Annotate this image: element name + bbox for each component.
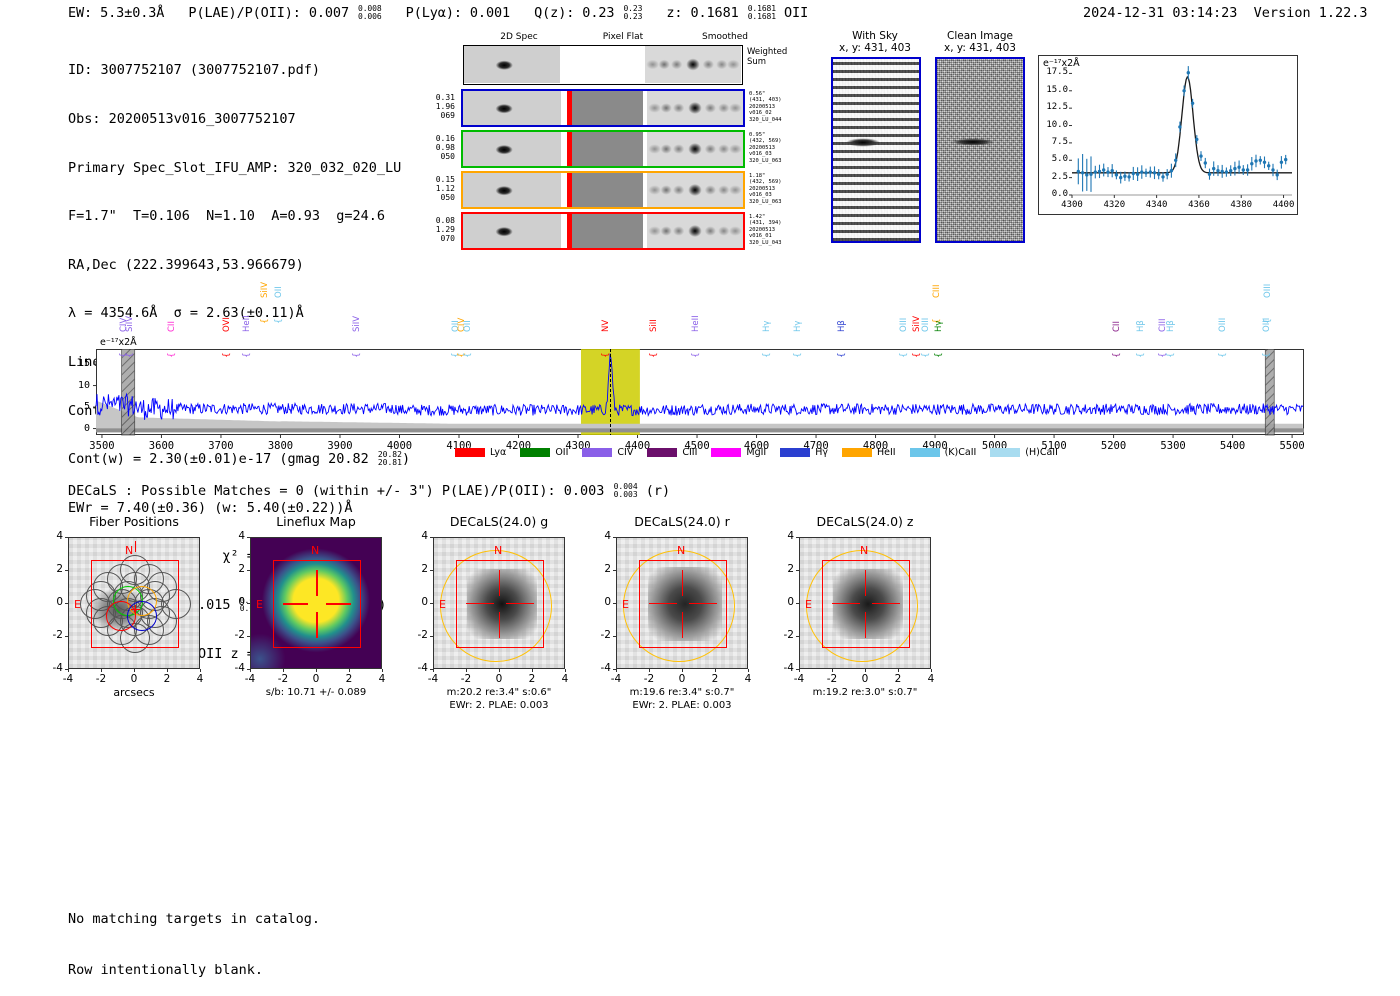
fiber-smoothed-3	[647, 214, 743, 248]
line-id-label: NV	[601, 320, 611, 332]
line-id-label: OIII	[1218, 318, 1228, 332]
line-id-label: HeII	[691, 315, 701, 332]
panel-title-1: Lineflux Map	[212, 514, 420, 529]
spectrum-xtick: 4000	[375, 440, 423, 452]
panel-xtick-mark	[931, 669, 932, 672]
panel-ytick-mark	[613, 603, 616, 604]
legend-entry: (H)CaII	[990, 447, 1058, 458]
panel-caption1: m:19.6 re:3.4" s:0.7"	[580, 687, 784, 699]
fiber-2dspec-1	[463, 132, 561, 166]
panel-xtick: -4	[781, 673, 817, 685]
panel-xtick-mark	[799, 669, 800, 672]
line-id-brace: {	[934, 352, 944, 358]
spectrum-ytick: 0	[64, 423, 90, 434]
with-sky-coords: x, y: 431, 403	[839, 42, 911, 54]
zoom-ytick: 7.5	[1038, 137, 1068, 147]
panel-xtick: -4	[50, 673, 86, 685]
panel-image-4[interactable]: NE	[799, 537, 931, 669]
panel-xtick-mark	[101, 669, 102, 672]
zoom-ytick: 2.5	[1038, 172, 1068, 182]
panel-xtick-mark	[68, 669, 69, 672]
zoom-ytick: 15.0	[1038, 85, 1068, 95]
fiber-stats-3: 0.081.29070	[425, 216, 455, 244]
line-id-brace: {	[1166, 352, 1176, 358]
twod-title-pixelflat: Pixel Flat	[573, 32, 673, 42]
fiber-stats-0: 0.311.96069	[425, 93, 455, 121]
timestamp-version: 2024-12-31 03:14:23 Version 1.22.3	[1083, 5, 1367, 21]
fiber-meta-3: 1.42"(431, 394)20200513v016_01320_LU_043	[749, 214, 781, 246]
panel-title-3: DECaLS(24.0) r	[578, 514, 786, 529]
panel-ytick-mark	[796, 570, 799, 571]
fiber-pixelflat-1	[572, 132, 643, 166]
line-id-brace: {	[242, 352, 252, 358]
full-spectrum-svg	[92, 349, 1304, 441]
line-id-brace: {	[1263, 318, 1273, 324]
qz-errors: 0.230.23	[623, 5, 642, 21]
panel-ytick: 4	[590, 530, 611, 542]
panel-xtick: -2	[265, 673, 301, 685]
fiber-row-0[interactable]	[461, 89, 745, 127]
panel-image-0[interactable]: NE	[68, 537, 200, 669]
line-id-brace: {	[837, 352, 847, 358]
panel-ytick-mark	[796, 537, 799, 538]
footer-note: No matching targets in catalog. Row inte…	[68, 877, 320, 996]
panel-ytick: 2	[42, 563, 63, 575]
line-id-label: SiII	[649, 319, 659, 332]
panel-ytick: 0	[590, 596, 611, 608]
spectrum-ytick: 15	[64, 358, 90, 369]
panel-xtick: 2	[331, 673, 367, 685]
panel-ytick-mark	[430, 537, 433, 538]
panel-ytick: 0	[773, 596, 794, 608]
weighted-sum-row	[463, 45, 743, 85]
panel-xtick-mark	[250, 669, 251, 672]
fiber-meta-2: 1.18"(432, 569)20200513v016_03320_LU_063	[749, 173, 781, 205]
legend-entry: (K)CaII	[910, 447, 977, 458]
panel-ytick: 4	[407, 530, 428, 542]
panel-ytick: -2	[224, 629, 245, 641]
panel-caption2: EWr: 2. PLAE: 0.003	[397, 700, 601, 712]
panel-xtick: 0	[664, 673, 700, 685]
spectrum-ytick: 5	[64, 401, 90, 412]
panel-xtick: -2	[814, 673, 850, 685]
legend-swatch	[910, 448, 940, 457]
spectrum-xtick: 3900	[316, 440, 364, 452]
clean-image-title: Clean Image x, y: 431, 403	[925, 30, 1035, 54]
plae-lower: 0.006	[358, 13, 382, 21]
panel-xtick-mark	[167, 669, 168, 672]
with-sky-title: With Sky x, y: 431, 403	[820, 30, 930, 54]
panel-xtick-mark	[898, 669, 899, 672]
panel-title-4: DECaLS(24.0) z	[761, 514, 969, 529]
panel-ytick-mark	[613, 636, 616, 637]
clean-image-coords: x, y: 431, 403	[944, 42, 1016, 54]
zoom-chart-svg	[1038, 55, 1298, 215]
line-id-brace: {	[649, 352, 659, 358]
panel-ytick-mark	[430, 603, 433, 604]
panel-xtick-mark	[649, 669, 650, 672]
panel-ytick: 4	[224, 530, 245, 542]
emission-line-zoom-chart: e⁻¹⁷x2Å 0.02.55.07.510.012.515.017.5 430…	[1038, 55, 1298, 215]
panel-xtick-mark	[832, 669, 833, 672]
fiber-stats-1: 0.160.98050	[425, 134, 455, 162]
panel-xtick: 0	[847, 673, 883, 685]
fiber-row-1[interactable]	[461, 130, 745, 168]
panel-xtick-mark	[865, 669, 866, 672]
line-id-label: OIII	[921, 318, 931, 332]
fiber-row-3[interactable]	[461, 212, 745, 250]
footer-line1: No matching targets in catalog.	[68, 911, 320, 928]
info-seeing: F=1.7" T=0.106 N=1.10 A=0.93 g=24.6	[68, 208, 410, 224]
panel-xtick-mark	[565, 669, 566, 672]
legend-entry: HeII	[842, 447, 896, 458]
panel-xtick: 4	[730, 673, 766, 685]
with-sky-image	[831, 57, 921, 243]
panel-xtick-mark	[349, 669, 350, 672]
legend-label: OII	[555, 447, 568, 458]
legend-swatch	[582, 448, 612, 457]
info-obs: Obs: 20200513v016_3007752107	[68, 111, 410, 127]
line-id-brace: {	[762, 352, 772, 358]
panel-ytick-mark	[613, 570, 616, 571]
panel-xtick-mark	[616, 669, 617, 672]
panel-xtick-mark	[433, 669, 434, 672]
line-id-label: Hγ	[793, 321, 803, 332]
panel-ytick-mark	[247, 537, 250, 538]
panel-ytick: -2	[42, 629, 63, 641]
legend-label: Hγ	[815, 447, 828, 458]
summary-mid2: z: 0.1681	[642, 5, 746, 21]
line-id-label: Hγ	[934, 321, 944, 332]
panel-ytick: -2	[773, 629, 794, 641]
panel-xtick-mark	[682, 669, 683, 672]
legend-entry: Hγ	[780, 447, 828, 458]
decals-plae-errors: 0.0040.003	[614, 483, 638, 499]
panel-caption1: s/b: 10.71 +/- 0.089	[214, 687, 418, 699]
legend-label: (K)CaII	[945, 447, 977, 458]
line-id-brace: {	[899, 352, 909, 358]
legend-swatch	[842, 448, 872, 457]
panel-ytick: 0	[42, 596, 63, 608]
line-id-label: Hβ	[1166, 320, 1176, 332]
panel-xtick: -2	[83, 673, 119, 685]
spectrum-xtick: 5200	[1090, 440, 1138, 452]
full-spectrum-chart: e⁻¹⁷x2Å 051015 3500360037003800390040004…	[96, 349, 1304, 435]
panel-caption1: m:20.2 re:3.4" s:0.6"	[397, 687, 601, 699]
panel-image-3[interactable]: NE	[616, 537, 748, 669]
panel-ytick: 2	[590, 563, 611, 575]
z-errors: 0.16810.1681	[748, 5, 776, 21]
panel-xtick: -4	[415, 673, 451, 685]
panel-ytick: -2	[407, 629, 428, 641]
legend-entry: Lyα	[455, 447, 506, 458]
gmag-errors: 20.8220.81	[378, 451, 402, 467]
line-id-label: Hγ	[762, 321, 772, 332]
panel-xtick-mark	[466, 669, 467, 672]
line-id-label: CII	[167, 321, 177, 332]
fiber-pixelflat-2	[572, 173, 643, 207]
zoom-ytick: 12.5	[1038, 102, 1068, 112]
fiber-2dspec-3	[463, 214, 561, 248]
zoom-xtick: 4300	[1050, 200, 1094, 210]
summary-prefix: EW: 5.3±0.3Å P(LAE)/P(OII): 0.007	[68, 5, 357, 21]
spectrum-xtick: 5300	[1149, 440, 1197, 452]
panel-xtick: 4	[182, 673, 218, 685]
panel-xtick: 0	[116, 673, 152, 685]
panel-ytick: -2	[590, 629, 611, 641]
line-id-brace: {	[691, 352, 701, 358]
panel-ytick-mark	[247, 636, 250, 637]
zoom-ytick: 5.0	[1038, 154, 1068, 164]
line-id-label: SiIV	[352, 316, 362, 332]
panel-xtick: -2	[631, 673, 667, 685]
decals-header: DECaLS : Possible Matches = 0 (within +/…	[68, 483, 670, 499]
fiber-2dspec-0	[463, 91, 561, 125]
panel-ytick: 2	[407, 563, 428, 575]
line-id-brace: {	[1136, 352, 1146, 358]
panel-ytick: 0	[224, 596, 245, 608]
legend-entry: CIII	[647, 447, 697, 458]
panel-xtick: 2	[149, 673, 185, 685]
panel-xtick: 2	[880, 673, 916, 685]
fiber-stats-2: 0.151.12050	[425, 175, 455, 203]
panel-xtick-mark	[283, 669, 284, 672]
panel-title-2: DECaLS(24.0) g	[395, 514, 603, 529]
zoom-xtick: 4340	[1135, 200, 1179, 210]
panel-ytick-mark	[65, 570, 68, 571]
legend-swatch	[455, 448, 485, 457]
zoom-xtick: 4380	[1219, 200, 1263, 210]
zoom-ytick: 17.5	[1038, 67, 1068, 77]
zoom-ytick: 10.0	[1038, 120, 1068, 130]
line-id-label: CIII	[932, 285, 942, 298]
panel-xtick: 4	[364, 673, 400, 685]
info-id: ID: 3007752107 (3007752107.pdf)	[68, 62, 410, 78]
clean-image	[935, 57, 1025, 243]
line-id-label: OIII	[1263, 284, 1273, 298]
spectrum-xtick: 3600	[137, 440, 185, 452]
spectrum-xtick: 3500	[78, 440, 126, 452]
line-id-brace: {	[222, 352, 232, 358]
panel-ytick-mark	[796, 603, 799, 604]
weighted-sum-label: Weighted Sum	[747, 48, 787, 67]
qz-lower: 0.23	[623, 13, 642, 21]
fiber-meta-0: 0.56"(431, 403)20200513v016_02320_LU_044	[749, 91, 781, 123]
legend-label: CIII	[682, 447, 697, 458]
panel-xtick: -2	[448, 673, 484, 685]
panel-xtick-mark	[499, 669, 500, 672]
panel-xtick-mark	[748, 669, 749, 672]
zoom-ytick: 0.0	[1038, 189, 1068, 199]
spectrum-xtick: 3800	[256, 440, 304, 452]
line-id-label: OII	[463, 320, 473, 332]
legend-swatch	[990, 448, 1020, 457]
panel-ytick: 2	[224, 563, 245, 575]
info-radec: RA,Dec (222.399643,53.966679)	[68, 257, 410, 273]
panel-xtick-mark	[134, 669, 135, 672]
legend-label: Lyα	[490, 447, 506, 458]
line-id-label: CII	[1112, 321, 1122, 332]
line-id-brace: {	[274, 318, 284, 324]
legend-entry: OII	[520, 447, 568, 458]
line-id-brace: {	[463, 352, 473, 358]
z-lower: 0.1681	[748, 13, 776, 21]
panel-title-0: Fiber Positions	[30, 514, 238, 529]
panel-caption1: m:19.2 re:3.0" s:0.7"	[763, 687, 967, 699]
summary-header: EW: 5.3±0.3Å P(LAE)/P(OII): 0.007 0.0080…	[68, 5, 808, 21]
twod-title-smoothed: Smoothed	[675, 32, 775, 42]
weighted-sum-line1: Weighted	[747, 47, 787, 57]
fiber-pixelflat-3	[572, 214, 643, 248]
panel-xtick-mark	[532, 669, 533, 672]
line-id-brace: {	[260, 318, 270, 324]
panel-ytick-mark	[65, 603, 68, 604]
line-id-brace: {	[793, 352, 803, 358]
info-slot: Primary Spec_Slot_IFU_AMP: 320_032_020_L…	[68, 160, 410, 176]
panel-xtick: 2	[514, 673, 550, 685]
line-id-brace: {	[1112, 352, 1122, 358]
clean-image-title-text: Clean Image	[947, 30, 1013, 42]
plae-errors: 0.0080.006	[358, 5, 382, 21]
twod-title-2dspec: 2D Spec	[469, 32, 569, 42]
fiber-meta-1: 0.95"(432, 569)20200513v016_03320_LU_063	[749, 132, 781, 164]
line-id-label: Hβ	[837, 320, 847, 332]
panel-xtick: 2	[697, 673, 733, 685]
line-id-label: Hβ	[1136, 320, 1146, 332]
footer-line2: Row intentionally blank.	[68, 962, 320, 979]
line-id-brace: {	[601, 352, 611, 358]
panel-ytick: 4	[773, 530, 794, 542]
panel-xtick: 4	[547, 673, 583, 685]
fiber-smoothed-2	[647, 173, 743, 207]
spectrum-xtick: 5400	[1209, 440, 1257, 452]
line-id-brace: {	[167, 352, 177, 358]
panel-ytick-mark	[613, 537, 616, 538]
line-id-label: OVI	[222, 317, 232, 332]
panel-xtick-mark	[715, 669, 716, 672]
panel-xtick: -4	[232, 673, 268, 685]
line-id-label: SiIV	[125, 316, 135, 332]
panel-ytick-mark	[796, 636, 799, 637]
panel-ytick: 0	[407, 596, 428, 608]
spectrum-ytick: 10	[64, 380, 90, 391]
zoom-xtick: 4400	[1262, 200, 1306, 210]
panel-xtick: 4	[913, 673, 949, 685]
line-id-label: OII	[274, 286, 284, 298]
weighted-sum-line2: Sum	[747, 57, 766, 67]
with-sky-title-text: With Sky	[852, 30, 898, 42]
legend-label: (H)CaII	[1025, 447, 1058, 458]
panel-xtick-mark	[200, 669, 201, 672]
line-id-brace: {	[1218, 352, 1228, 358]
fiber-pixelflat-0	[572, 91, 643, 125]
panel-image-1[interactable]: NE	[250, 537, 382, 669]
fiber-smoothed-1	[647, 132, 743, 166]
panel-ytick-mark	[430, 570, 433, 571]
legend-swatch	[711, 448, 741, 457]
legend-entry: CIV	[582, 447, 633, 458]
line-id-label: OIII	[899, 318, 909, 332]
panel-ytick-mark	[430, 636, 433, 637]
fiber-row-2[interactable]	[461, 171, 745, 209]
summary-suffix: OII	[776, 5, 808, 21]
legend-swatch	[647, 448, 677, 457]
line-id-brace: {	[352, 352, 362, 358]
zoom-xtick: 4360	[1177, 200, 1221, 210]
emission-line-id-labels: CIV{SiIV{CII{OVI{HeII{SiIV{OII{SiIV{OII{…	[96, 280, 1304, 350]
panel-caption2: EWr: 2. PLAE: 0.003	[580, 700, 784, 712]
summary-mid: P(Lyα): 0.001 Q(z): 0.23	[382, 5, 623, 21]
panel-ytick-mark	[65, 636, 68, 637]
line-id-brace: {	[921, 352, 931, 358]
legend-label: CIV	[617, 447, 633, 458]
line-id-label: HeII	[242, 315, 252, 332]
line-id-brace: {	[1262, 352, 1272, 358]
panel-xtick: 0	[481, 673, 517, 685]
panel-ytick-mark	[247, 570, 250, 571]
panel-xtick: 0	[298, 673, 334, 685]
panel-ytick: 4	[42, 530, 63, 542]
legend-label: MgII	[746, 447, 766, 458]
line-id-label: SiIV	[260, 282, 270, 298]
twod-spec-panel: 2D Spec Pixel Flat Smoothed Weighted Sum…	[425, 32, 810, 252]
legend-swatch	[780, 448, 810, 457]
panel-xtick-mark	[382, 669, 383, 672]
info-cont-w: Cont(w) = 2.30(±0.01)e-17 (gmag 20.82 20…	[68, 451, 410, 467]
panel-xtick-mark	[316, 669, 317, 672]
fiber-smoothed-0	[647, 91, 743, 125]
panel-image-2[interactable]: NE	[433, 537, 565, 669]
spectrum-legend: LyαOIICIVCIIIMgIIHγHeII(K)CaII(H)CaII	[455, 447, 1072, 458]
spectrum-xtick: 5500	[1268, 440, 1316, 452]
zoom-xtick: 4320	[1092, 200, 1136, 210]
fiber-2dspec-2	[463, 173, 561, 207]
panel-xtick: -4	[598, 673, 634, 685]
legend-label: HeII	[877, 447, 896, 458]
panel-xlabel: arcsecs	[38, 687, 230, 699]
panel-ytick: 2	[773, 563, 794, 575]
spectrum-xtick: 3700	[197, 440, 245, 452]
panel-ytick-mark	[247, 603, 250, 604]
legend-swatch	[520, 448, 550, 457]
legend-entry: MgII	[711, 447, 766, 458]
line-id-brace: {	[125, 352, 135, 358]
panel-ytick-mark	[65, 537, 68, 538]
